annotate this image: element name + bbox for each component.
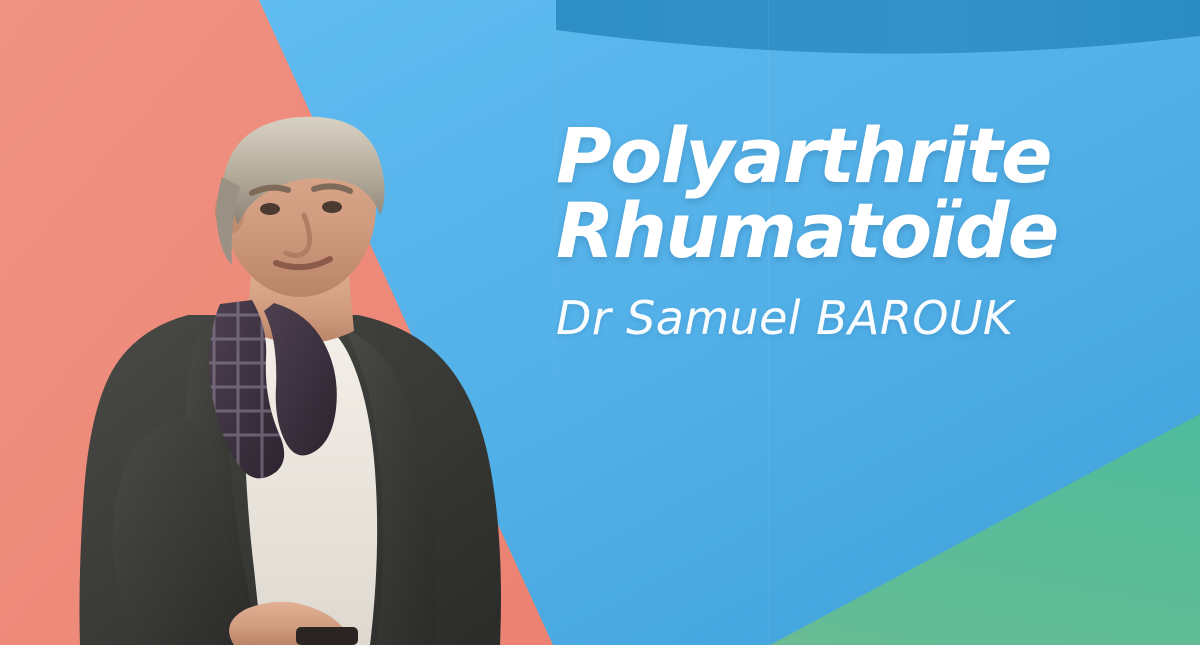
page-title: Polyarthrite Rhumatoïde xyxy=(556,118,1156,268)
title-slide: Polyarthrite Rhumatoïde Dr Samuel BAROUK xyxy=(0,0,1200,645)
speaker-photo xyxy=(38,115,558,645)
title-line-2: Rhumatoïde xyxy=(556,193,1156,268)
speaker-eye-left xyxy=(260,203,280,215)
speaker-name: Dr Samuel BAROUK xyxy=(556,294,1156,342)
title-block: Polyarthrite Rhumatoïde Dr Samuel BAROUK xyxy=(556,118,1156,343)
speaker-eye-right xyxy=(322,201,342,213)
speaker-device xyxy=(296,627,358,645)
